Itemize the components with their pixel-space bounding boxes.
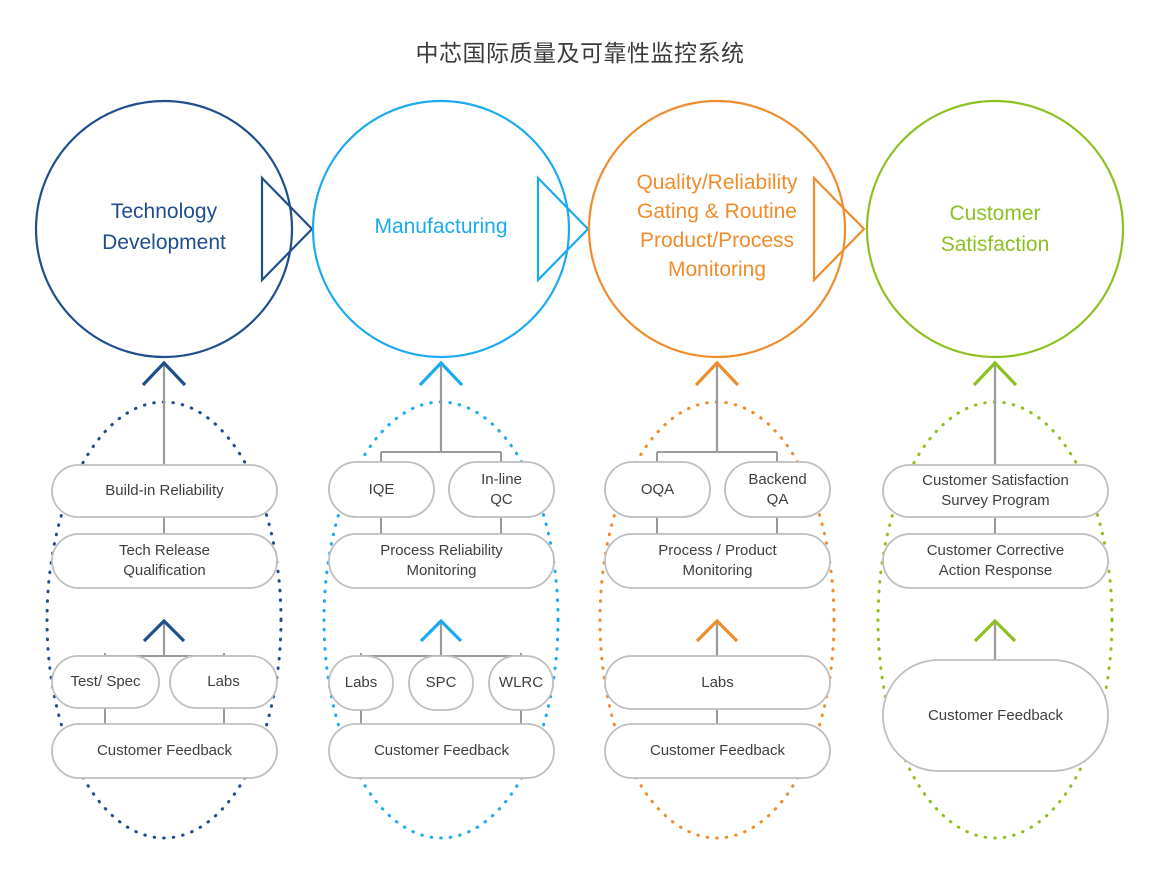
node-shape-test-spec bbox=[52, 656, 159, 708]
stage-circle-3 bbox=[589, 101, 845, 357]
node-shape-customer-feedback-3 bbox=[605, 724, 830, 778]
diagram-canvas: 中芯国际质量及可靠性监控系统 bbox=[0, 0, 1160, 890]
node-shape-customer-feedback-2 bbox=[329, 724, 554, 778]
node-shape-customer-corrective-action-response bbox=[883, 534, 1108, 588]
node-shape-customer-feedback-1 bbox=[52, 724, 277, 778]
node-shape-process-reliability-monitoring bbox=[329, 534, 554, 588]
node-shape-wlrc bbox=[489, 656, 553, 710]
node-shape-backend-qa bbox=[725, 462, 830, 517]
node-shape-spc bbox=[409, 656, 473, 710]
stage-circle-1 bbox=[36, 101, 292, 357]
node-shape-labs-2 bbox=[329, 656, 393, 710]
node-shape-in-line-qc bbox=[449, 462, 554, 517]
node-shape-labs-1 bbox=[170, 656, 277, 708]
stage-circle-4 bbox=[867, 101, 1123, 357]
stage-circle-2 bbox=[313, 101, 569, 357]
node-shape-process-product-monitoring bbox=[605, 534, 830, 588]
node-shape-labs-3 bbox=[605, 656, 830, 709]
node-shape-iqe bbox=[329, 462, 434, 517]
node-shape-oqa bbox=[605, 462, 710, 517]
node-shape-customer-feedback-4 bbox=[883, 660, 1108, 771]
node-shape-tech-release-qualification bbox=[52, 534, 277, 588]
node-shape-customer-satisfaction-survey-program bbox=[883, 465, 1108, 517]
diagram-artwork bbox=[0, 0, 1160, 890]
node-shape-build-in-reliability bbox=[52, 465, 277, 517]
